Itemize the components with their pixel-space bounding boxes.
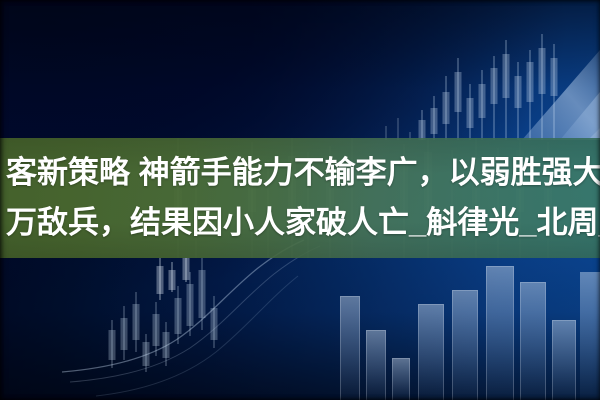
page-title: 客新策略 神箭手能力不输李广，以弱胜强大破10 万敌兵，结果因小人家破人亡_斛律…	[0, 138, 600, 258]
headline-line-1: 客新策略 神箭手能力不输李广，以弱胜强大破10	[6, 148, 594, 198]
article-banner: 客新策略 神箭手能力不输李广，以弱胜强大破10 万敌兵，结果因小人家破人亡_斛律…	[0, 0, 600, 400]
headline-line-2: 万敌兵，结果因小人家破人亡_斛律光_北周_敌军	[6, 198, 594, 248]
